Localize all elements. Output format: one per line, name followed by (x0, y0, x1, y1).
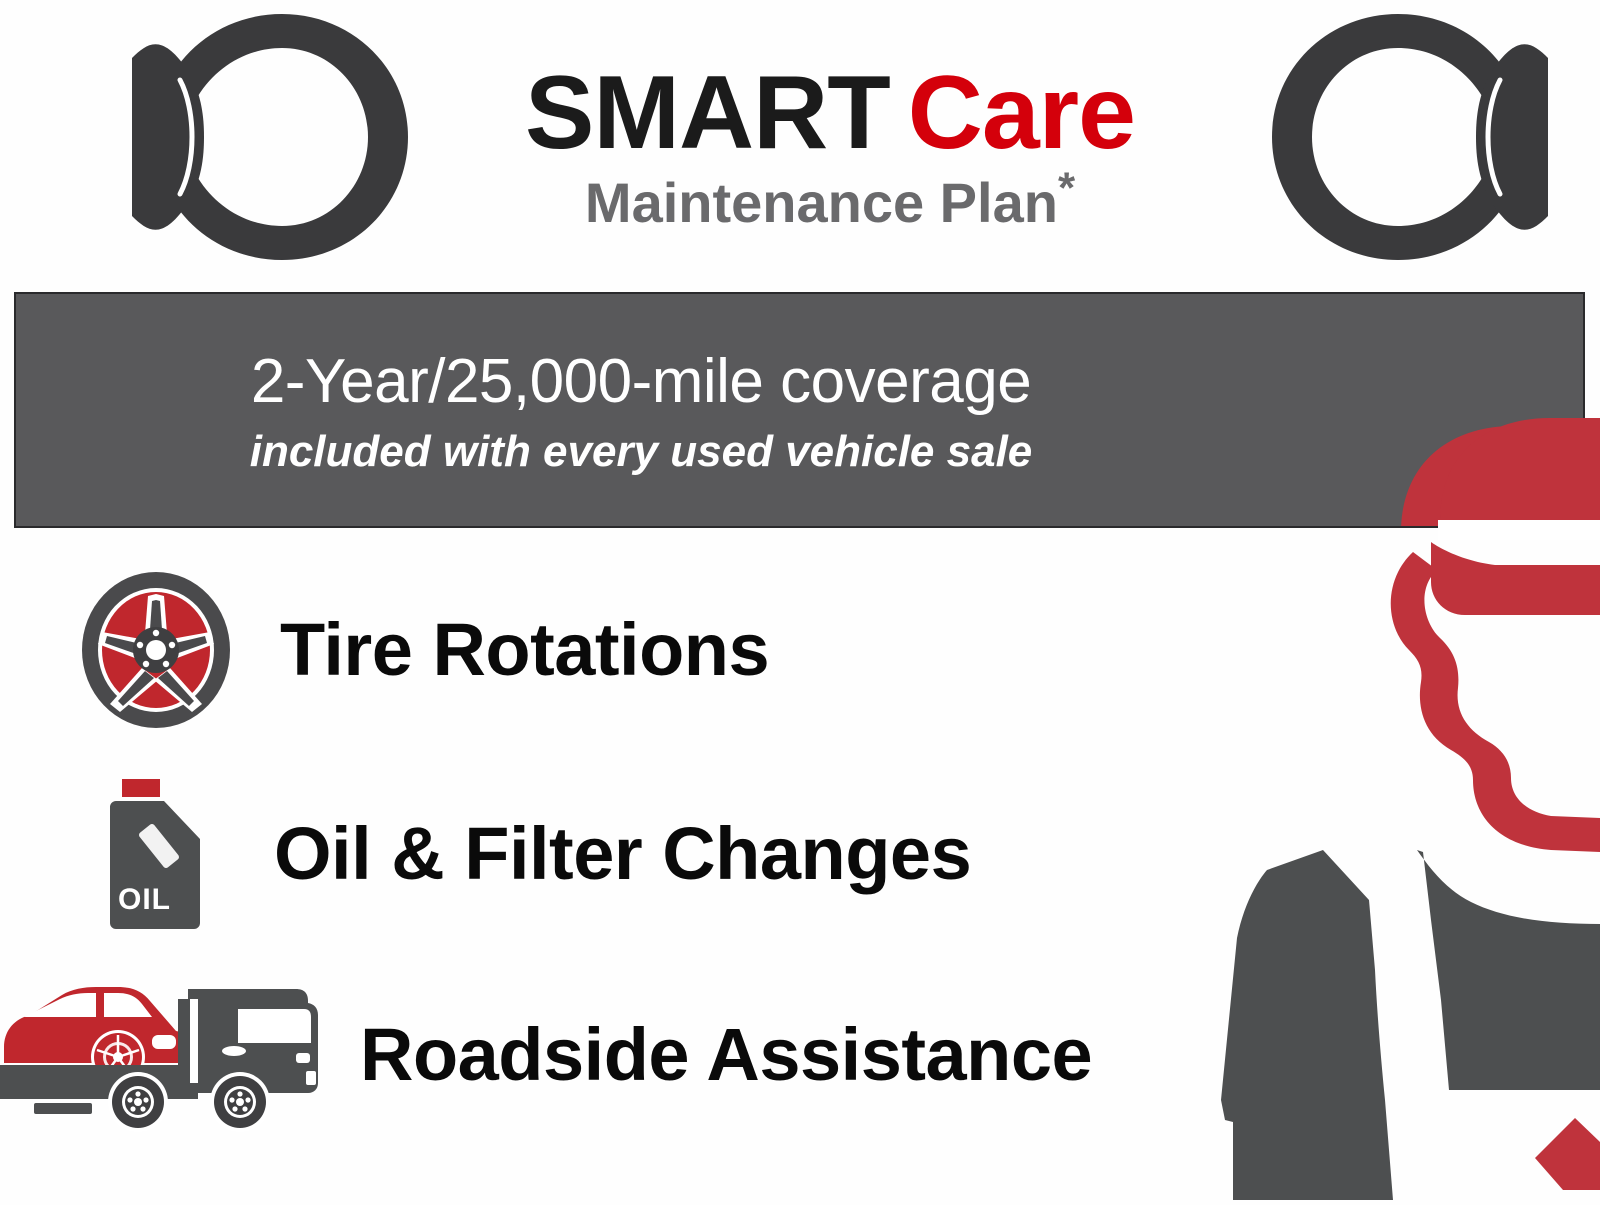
brand-tagline: Maintenance Plan* (430, 172, 1230, 234)
feature-item-tire-rotations: Tire Rotations (0, 570, 769, 730)
coverage-headline: 2-Year/25,000-mile coverage (251, 347, 1031, 417)
coverage-banner-text: 2-Year/25,000-mile coverage included wit… (16, 294, 1266, 528)
wrench-icon (118, 6, 448, 268)
header: SMARTCare Maintenance Plan* (0, 0, 1600, 285)
oil-bottle-label: OIL (118, 883, 171, 916)
mechanic-illustration (1155, 400, 1600, 1200)
feature-item-oil-filter-changes: OIL Oil & Filter Changes (0, 775, 971, 933)
feature-label: Oil & Filter Changes (274, 814, 971, 894)
wrench-icon (1232, 6, 1562, 268)
feature-label: Roadside Assistance (360, 1015, 1092, 1095)
brand-name-part2: Care (908, 55, 1135, 171)
brand-logo: SMARTCare Maintenance Plan* (430, 58, 1230, 268)
tire-icon (76, 570, 236, 730)
coverage-subline: included with every used vehicle sale (250, 427, 1033, 477)
brand-name-part1: SMART (525, 55, 890, 171)
smart-care-infographic: SMARTCare Maintenance Plan* 2-Year/25,00… (0, 0, 1600, 1200)
feature-list: Tire Rotations OIL Oil & Filter Changes (0, 560, 1180, 1200)
feature-item-roadside-assistance: Roadside Assistance (0, 975, 1092, 1135)
brand-tagline-footnote: * (1058, 163, 1075, 212)
feature-label: Tire Rotations (280, 610, 769, 690)
tow-truck-icon (0, 975, 330, 1135)
brand-tagline-text: Maintenance Plan (585, 171, 1058, 234)
brand-name: SMARTCare (430, 58, 1230, 168)
oil-bottle-icon: OIL (96, 775, 214, 933)
